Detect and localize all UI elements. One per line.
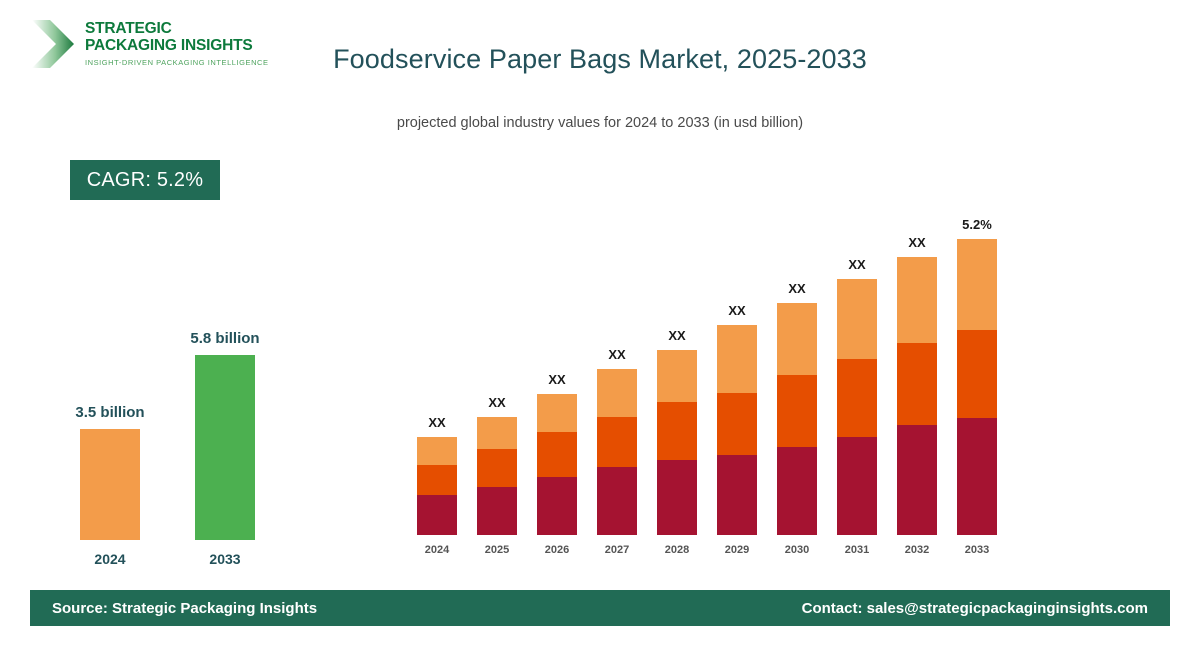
stacked-segment-segment-1-2033 [957,418,997,535]
stacked-year-label-2029: 2029 [725,544,749,556]
stacked-segment-segment-1-2030 [777,447,817,535]
stacked-column-2032: XX2032 [897,225,937,535]
stacked-segment-segment-3-2026 [537,394,577,432]
stacked-column-2029: XX2029 [717,225,757,535]
stacked-year-label-2027: 2027 [605,544,629,556]
stacked-segment-segment-2-2028 [657,402,697,460]
stacked-segment-segment-1-2027 [597,467,637,535]
stacked-segment-segment-3-2028 [657,350,697,402]
stacked-segment-segment-1-2025 [477,487,517,535]
stacked-bar-2028 [657,350,697,535]
stacked-segment-segment-1-2029 [717,455,757,535]
stacked-segment-segment-3-2027 [597,369,637,417]
stacked-value-label-2024: XX [428,415,445,430]
comparison-bar-2024 [80,429,140,540]
stacked-column-2026: XX2026 [537,225,577,535]
stacked-bar-2024 [417,437,457,535]
stacked-segment-segment-1-2028 [657,460,697,535]
stacked-segment-segment-2-2026 [537,432,577,477]
stacked-column-2027: XX2027 [597,225,637,535]
cagr-badge-label: CAGR: 5.2% [87,169,203,192]
stacked-segment-segment-2-2033 [957,330,997,418]
stacked-segment-segment-2-2029 [717,393,757,455]
stacked-segment-segment-2-2030 [777,375,817,447]
page-title: Foodservice Paper Bags Market, 2025-2033 [0,44,1200,75]
stacked-segment-segment-1-2032 [897,425,937,535]
footer-source: Source: Strategic Packaging Insights [52,600,317,617]
footer-contact: Contact: sales@strategicpackaginginsight… [802,600,1148,617]
stacked-segment-segment-3-2024 [417,437,457,465]
stacked-segment-segment-3-2029 [717,325,757,393]
stacked-value-label-2026: XX [548,372,565,387]
stacked-year-label-2033: 2033 [965,544,989,556]
stacked-segment-segment-3-2030 [777,303,817,375]
stacked-value-label-2033: 5.2% [962,217,992,232]
stacked-segment-segment-3-2025 [477,417,517,449]
stacked-segment-segment-2-2027 [597,417,637,467]
comparison-value-label-2033: 5.8 billion [190,330,259,347]
stacked-column-2031: XX2031 [837,225,877,535]
stacked-bar-2025 [477,417,517,535]
stacked-column-2024: XX2024 [417,225,457,535]
comparison-value-label-2024: 3.5 billion [75,404,144,421]
stacked-segment-segment-2-2032 [897,343,937,425]
stacked-bar-2030 [777,303,817,535]
stacked-column-2030: XX2030 [777,225,817,535]
stacked-value-label-2025: XX [488,395,505,410]
stacked-column-2028: XX2028 [657,225,697,535]
stacked-bar-2031 [837,279,877,535]
stacked-year-label-2025: 2025 [485,544,509,556]
comparison-column-2024: 3.5 billion2024 [80,330,140,540]
comparison-year-label-2024: 2024 [94,551,125,567]
stacked-segment-segment-3-2032 [897,257,937,343]
stacked-bar-2026 [537,394,577,535]
stacked-bar-2029 [717,325,757,535]
stacked-bar-2032 [897,257,937,535]
page-subtitle: projected global industry values for 202… [0,115,1200,131]
stacked-column-2025: XX2025 [477,225,517,535]
stacked-segment-segment-1-2024 [417,495,457,535]
comparison-year-label-2033: 2033 [209,551,240,567]
stacked-year-label-2028: 2028 [665,544,689,556]
stacked-value-label-2030: XX [788,281,805,296]
stacked-value-label-2031: XX [848,257,865,272]
forecast-stacked-bar-chart: XX2024XX2025XX2026XX2027XX2028XX2029XX20… [405,200,1015,560]
cagr-badge: CAGR: 5.2% [70,160,220,200]
comparison-column-2033: 5.8 billion2033 [195,330,255,540]
comparison-bar-2033 [195,355,255,540]
stacked-year-label-2024: 2024 [425,544,449,556]
comparison-bar-chart: 3.5 billion20245.8 billion2033 [55,300,270,570]
stacked-segment-segment-3-2033 [957,239,997,330]
stacked-segment-segment-1-2026 [537,477,577,535]
stacked-year-label-2031: 2031 [845,544,869,556]
stacked-column-2033: 5.2%2033 [957,225,997,535]
stacked-year-label-2032: 2032 [905,544,929,556]
footer-bar: Source: Strategic Packaging Insights Con… [30,590,1170,626]
stacked-segment-segment-1-2031 [837,437,877,535]
stacked-bar-2027 [597,369,637,535]
stacked-segment-segment-2-2031 [837,359,877,437]
stacked-bar-2033 [957,239,997,535]
stacked-year-label-2026: 2026 [545,544,569,556]
stacked-segment-segment-3-2031 [837,279,877,359]
stacked-value-label-2029: XX [728,303,745,318]
stacked-value-label-2028: XX [668,328,685,343]
stacked-value-label-2032: XX [908,235,925,250]
stacked-segment-segment-2-2025 [477,449,517,487]
stacked-value-label-2027: XX [608,347,625,362]
stacked-year-label-2030: 2030 [785,544,809,556]
logo-line-1: STRATEGIC [85,21,269,38]
stacked-segment-segment-2-2024 [417,465,457,495]
